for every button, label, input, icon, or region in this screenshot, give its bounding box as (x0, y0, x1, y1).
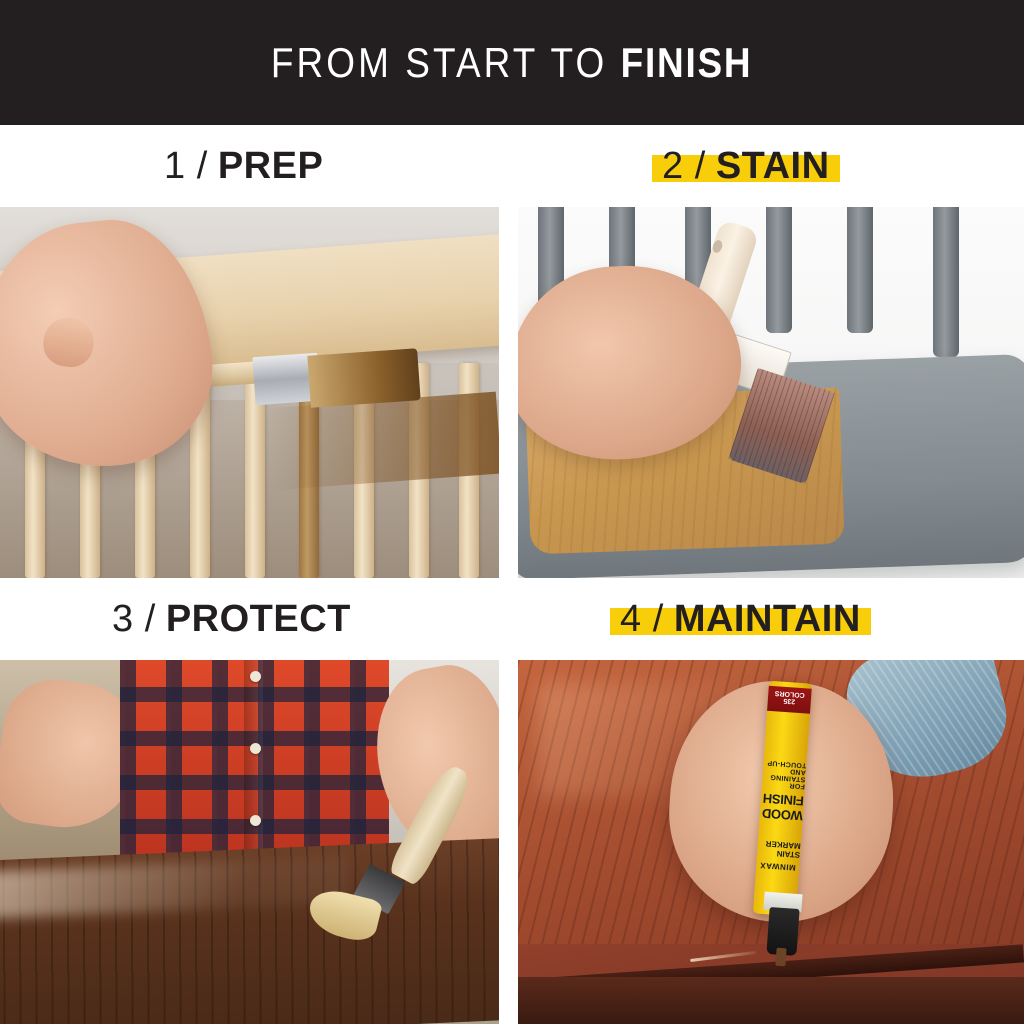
step-number-4: 4 (620, 598, 642, 640)
step-caption-protect: 3 / PROTECT (0, 578, 499, 660)
step-photo-protect (0, 660, 499, 1024)
header-bar: FROM START TO FINISH (0, 0, 1024, 125)
step-photo-maintain: 235 COLORS MINWAX STAIN MARKER WOOD FINI… (518, 660, 1024, 1024)
step-number-2: 2 (662, 145, 684, 187)
marker-product-name: WOOD FINISH (759, 790, 804, 823)
step-card-protect: 3 / PROTECT (0, 578, 499, 1024)
steps-grid: 1 / PREP (0, 125, 1024, 1024)
marker-cap-code: 235 COLORS (768, 688, 812, 705)
step-photo-stain (518, 207, 1024, 578)
page-title-bold: FINISH (621, 39, 753, 86)
step-separator-2: / (695, 145, 706, 187)
page-title-light: FROM START TO (271, 39, 607, 86)
marker-nib (775, 947, 786, 966)
thumb (41, 314, 98, 370)
marker-product-sub: STAIN MARKER (757, 838, 801, 859)
step-card-prep: 1 / PREP (0, 125, 499, 578)
step-card-stain: 2 / STAIN (518, 125, 1024, 578)
step-card-maintain: 4 / MAINTAIN 235 COLOR (518, 578, 1024, 1024)
step-number-1: 1 (164, 145, 186, 187)
marker-brand: MINWAX (759, 860, 795, 871)
infographic-page: FROM START TO FINISH 1 / PREP (0, 0, 1024, 1024)
marker-usage-line: FOR STAINING AND TOUCH-UP (762, 758, 807, 789)
step-label-protect: PROTECT (166, 598, 351, 640)
brush-bristles (308, 348, 421, 407)
page-title: FROM START TO FINISH (271, 42, 753, 84)
step-separator-1: / (197, 145, 208, 187)
shirt-button (250, 671, 261, 682)
step-label-prep: PREP (218, 145, 323, 187)
step-caption-maintain: 4 / MAINTAIN (518, 578, 1024, 660)
step-photo-prep: Purdy (0, 207, 499, 578)
shirt-placket (244, 660, 263, 878)
step-label-maintain: MAINTAIN (674, 598, 861, 640)
stain-stroke (267, 392, 499, 490)
step-caption-prep: 1 / PREP (0, 125, 499, 207)
step-separator-4: / (653, 598, 664, 640)
wood-scratch (690, 951, 756, 962)
step-number-3: 3 (112, 598, 134, 640)
lower-shadow (518, 977, 1024, 1024)
step-caption-stain: 2 / STAIN (518, 125, 1024, 207)
step-label-stain: STAIN (716, 145, 830, 187)
step-separator-3: / (145, 598, 156, 640)
